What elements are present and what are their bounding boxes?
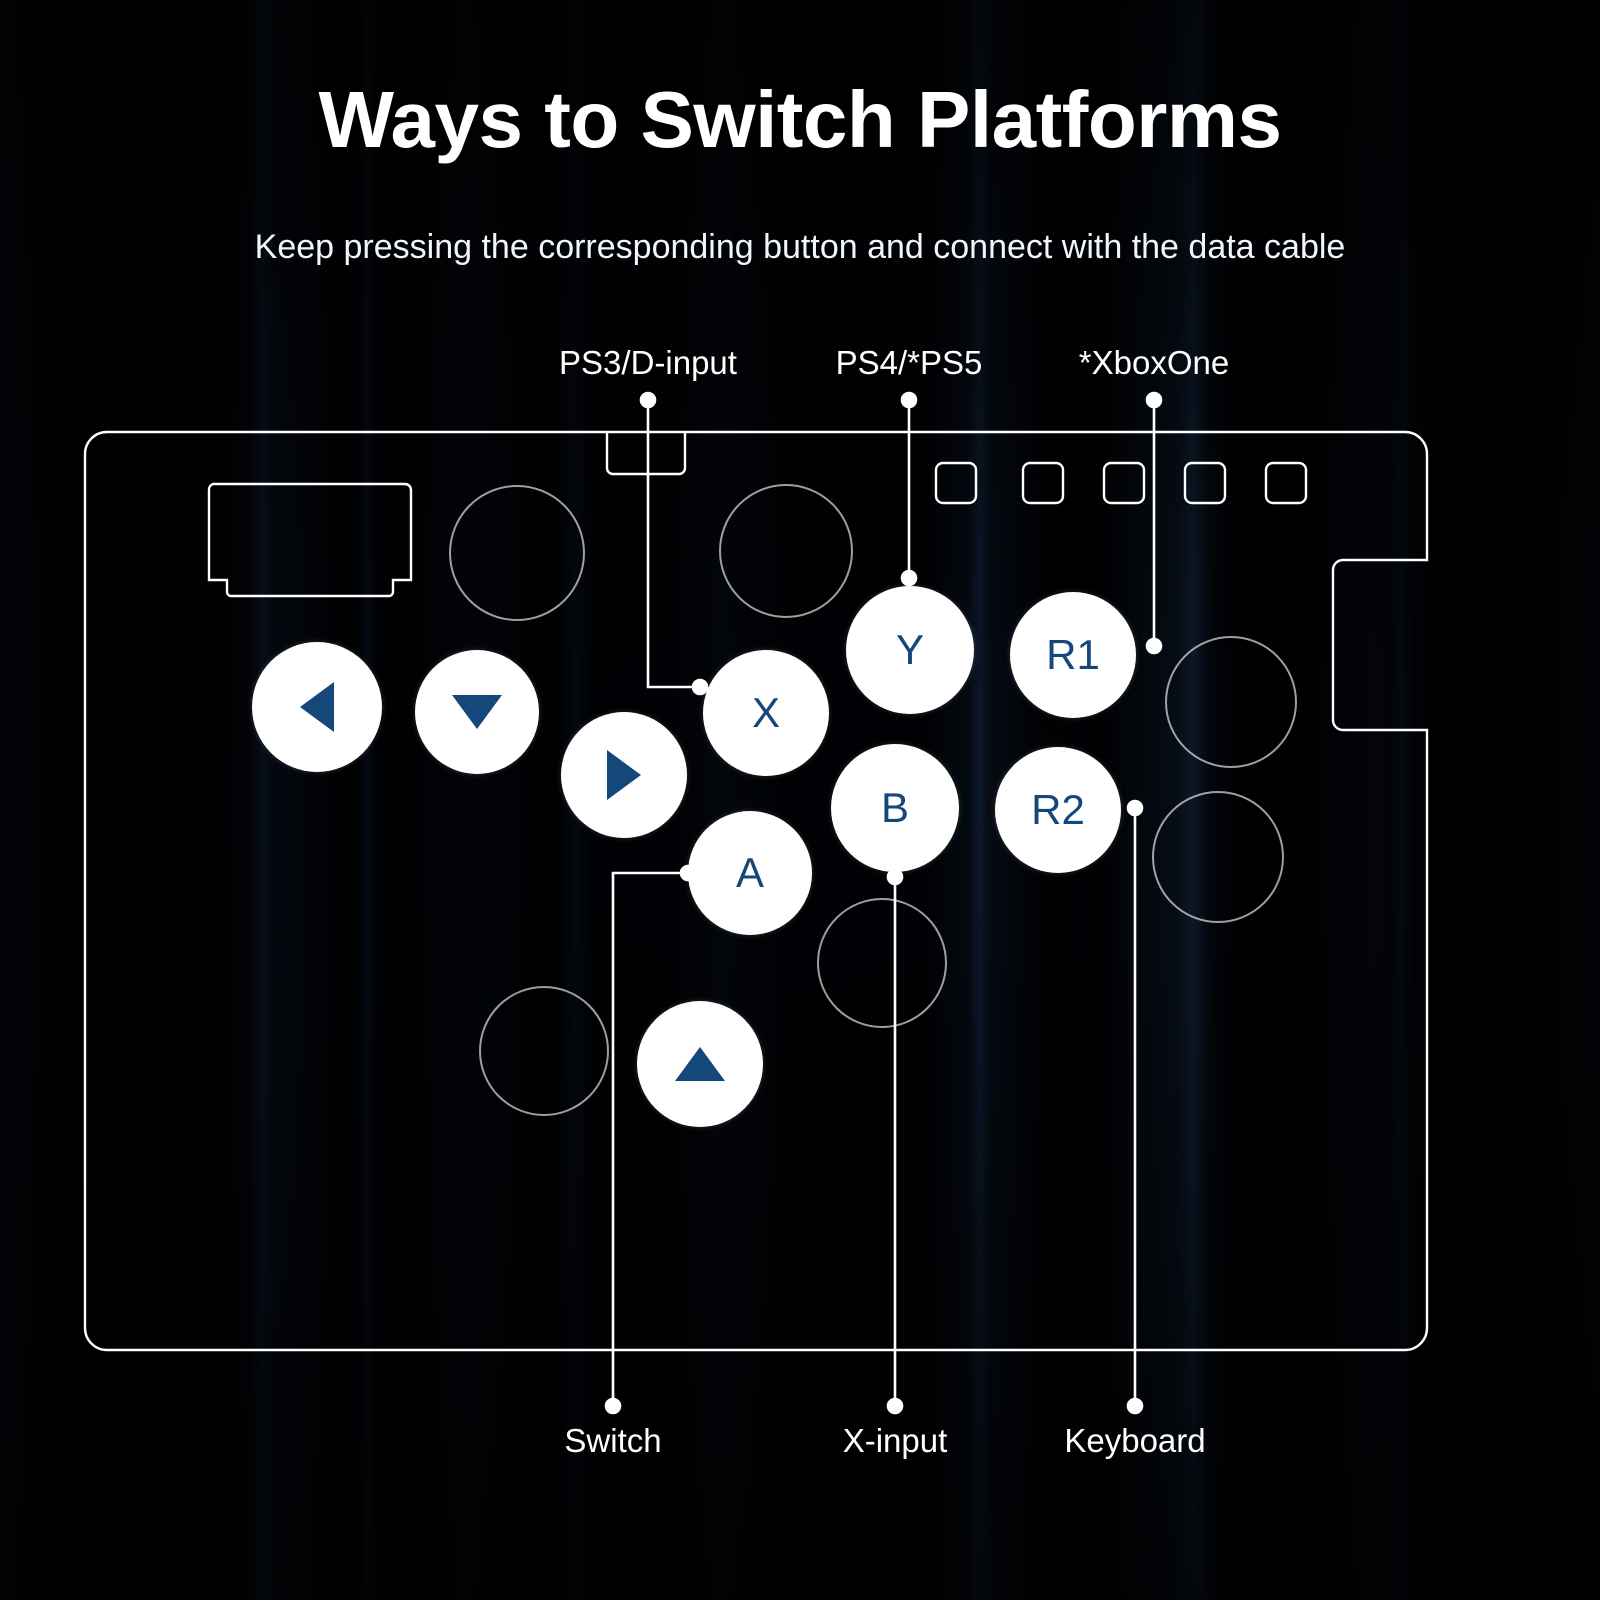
socket-right-upper (1165, 636, 1297, 768)
button-shoulder-r2-label: R2 (1031, 789, 1085, 831)
arrow-up-icon (675, 1047, 725, 1081)
button-dpad-left[interactable] (252, 642, 382, 772)
socket-right-lower (1152, 791, 1284, 923)
mode-switch-4[interactable] (1185, 463, 1225, 503)
button-face-b-label: B (881, 787, 909, 829)
button-face-y-label: Y (896, 629, 924, 671)
button-dpad-down[interactable] (415, 650, 539, 774)
socket-center-low (817, 898, 947, 1028)
usb-port-outline (209, 484, 411, 596)
button-face-x[interactable]: X (703, 650, 829, 776)
page-title: Ways to Switch Platforms (0, 78, 1600, 162)
mode-switch-5[interactable] (1266, 463, 1306, 503)
mode-switch-1[interactable] (936, 463, 976, 503)
socket-top-left (449, 485, 585, 621)
callout-label-ps4: PS4/*PS5 (836, 344, 983, 382)
callout-label-xboxone: *XboxOne (1079, 344, 1229, 382)
arrow-right-icon (607, 750, 641, 800)
button-shoulder-r2[interactable]: R2 (995, 747, 1121, 873)
callout-label-keyboard: Keyboard (1064, 1422, 1205, 1460)
button-dpad-up[interactable] (637, 1001, 763, 1127)
infographic-root: Ways to Switch Platforms Keep pressing t… (0, 0, 1600, 1600)
button-shoulder-r1-label: R1 (1046, 634, 1100, 676)
button-dpad-right[interactable] (561, 712, 687, 838)
callout-label-ps3: PS3/D-input (559, 344, 737, 382)
callout-label-switch: Switch (564, 1422, 661, 1460)
top-notch-outline (607, 432, 685, 474)
callout-label-xinput: X-input (843, 1422, 948, 1460)
button-face-x-label: X (752, 692, 780, 734)
arrow-down-icon (452, 695, 502, 729)
button-face-b[interactable]: B (831, 744, 959, 872)
button-shoulder-r1[interactable]: R1 (1010, 592, 1136, 718)
button-face-a-label: A (736, 852, 764, 894)
socket-top-mid (719, 484, 853, 618)
socket-bottom-left (479, 986, 609, 1116)
button-face-a[interactable]: A (688, 811, 812, 935)
arrow-left-icon (300, 682, 334, 732)
mode-switch-3[interactable] (1104, 463, 1144, 503)
page-subtitle: Keep pressing the corresponding button a… (0, 228, 1600, 267)
button-face-y[interactable]: Y (846, 586, 974, 714)
mode-switch-2[interactable] (1023, 463, 1063, 503)
